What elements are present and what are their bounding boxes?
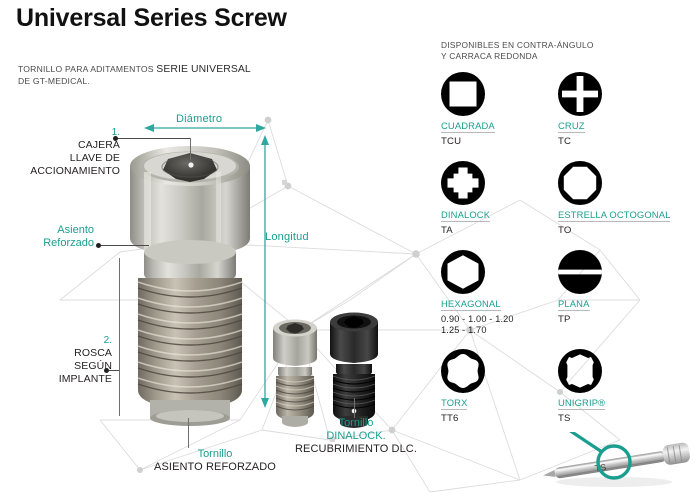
subtitle-block: TORNILLO PARA ADITAMENTOS SERIE UNIVERSA…	[18, 64, 278, 87]
driver-item-estrella-octogonal[interactable]: ESTRELLA OCTOGONAL TO	[558, 161, 670, 236]
drivers-header-line1: DISPONIBLES EN CONTRA-ÁNGULO	[441, 40, 594, 50]
caption-main-lead	[188, 418, 189, 448]
driver-item-cuadrada[interactable]: CUADRADA TCU	[441, 72, 495, 147]
callout-cajera-line1: CAJERA	[8, 139, 120, 152]
poster-canvas: Universal Series Screw TORNILLO PARA ADI…	[0, 0, 700, 500]
callout-asiento: Asiento Reforzado	[8, 224, 94, 250]
caption-dina-teal2: DINALOCK.	[276, 430, 436, 443]
screwdriver-illustration: TS	[536, 432, 700, 492]
driver-name-unigrip: UNIGRIP®	[558, 397, 605, 410]
square-driver-icon	[441, 72, 485, 116]
driver-item-dinalock[interactable]: DINALOCK TA	[441, 161, 490, 236]
length-label: Longitud	[265, 231, 309, 243]
hex-driver-icon	[441, 250, 485, 294]
subtitle-line1: TORNILLO PARA ADITAMENTOS	[18, 64, 154, 74]
callout-rosca-bracket	[119, 258, 120, 416]
driver-code-hexagonal: 0.90 - 1.00 - 1.20 1.25 - 1.70	[441, 314, 514, 336]
callout-asiento-line1: Asiento	[8, 224, 94, 237]
drivers-header: DISPONIBLES EN CONTRA-ÁNGULO Y CARRACA R…	[441, 40, 691, 62]
caption-dinalock-screw: Tornillo DINALOCK. RECUBRIMIENTO DLC.	[276, 417, 436, 456]
diameter-label: Diámetro	[176, 113, 222, 125]
driver-name-torx: TORX	[441, 397, 467, 410]
callout-cajera-line3: ACCIONAMIENTO	[8, 165, 120, 178]
driver-item-torx[interactable]: TORX TT6	[441, 349, 485, 424]
screwdriver-highlight-leader	[566, 432, 602, 452]
driver-name-dinalock: DINALOCK	[441, 209, 490, 222]
callout-rosca-line1: ROSCA	[8, 347, 112, 360]
callout-cajera: 1. CAJERA LLAVE DE ACCIONAMIENTO	[8, 126, 120, 178]
octagon-driver-icon	[558, 161, 602, 205]
driver-name-cruz: CRUZ	[558, 120, 585, 133]
driver-item-plana[interactable]: PLANA TP	[558, 250, 602, 325]
driver-code-dinalock: TA	[441, 225, 490, 236]
driver-code-unigrip: TS	[558, 413, 605, 424]
page-title: Universal Series Screw	[16, 4, 287, 33]
caption-dina-lead	[354, 398, 355, 418]
caption-dina-teal1: Tornillo	[276, 417, 436, 430]
driver-code-estrella-octogonal: TO	[558, 225, 670, 236]
callout-rosca: 2. ROSCA SEGÚN IMPLANTE	[8, 334, 112, 386]
driver-item-cruz[interactable]: CRUZ TC	[558, 72, 602, 147]
callout-asiento-line2: Reforzado	[8, 237, 94, 250]
callout-cajera-line2: LLAVE DE	[8, 152, 120, 165]
dinalock-driver-icon	[441, 161, 485, 205]
caption-main-dark: ASIENTO REFORZADO	[90, 461, 340, 474]
length-arrow	[255, 132, 275, 412]
driver-name-hexagonal: HEXAGONAL	[441, 298, 501, 311]
callout-cajera-lead	[118, 138, 190, 139]
driver-item-unigrip[interactable]: UNIGRIP® TS	[558, 349, 605, 424]
flat-driver-icon	[558, 250, 602, 294]
callout-rosca-number: 2.	[8, 334, 112, 347]
subtitle-line2: DE GT-MEDICAL.	[18, 76, 90, 86]
driver-name-cuadrada: CUADRADA	[441, 120, 495, 133]
callout-asiento-lead	[101, 245, 149, 246]
subtitle-strong: SERIE UNIVERSAL	[156, 64, 250, 75]
driver-code-cruz: TC	[558, 136, 602, 147]
callout-cajera-number: 1.	[8, 126, 120, 139]
cross-driver-icon	[558, 72, 602, 116]
driver-name-estrella-octogonal: ESTRELLA OCTOGONAL	[558, 209, 670, 222]
callout-rosca-line3: IMPLANTE	[8, 373, 112, 386]
drivers-header-line2: Y CARRACA REDONDA	[441, 51, 538, 61]
driver-code-cuadrada: TCU	[441, 136, 495, 147]
torx-driver-icon	[441, 349, 485, 393]
driver-name-plana: PLANA	[558, 298, 590, 311]
driver-code-plana: TP	[558, 314, 602, 325]
unigrip-driver-icon	[558, 349, 602, 393]
driver-code-torx: TT6	[441, 413, 485, 424]
main-screw-image	[120, 128, 260, 428]
callout-rosca-line2: SEGÚN	[8, 360, 112, 373]
driver-item-hexagonal[interactable]: HEXAGONAL 0.90 - 1.00 - 1.20 1.25 - 1.70	[441, 250, 514, 336]
callout-rosca-lead	[109, 370, 119, 371]
caption-dina-dark: RECUBRIMIENTO DLC.	[276, 443, 436, 456]
callout-cajera-lead-v	[190, 138, 191, 160]
small-screw-natural-image	[267, 312, 323, 430]
